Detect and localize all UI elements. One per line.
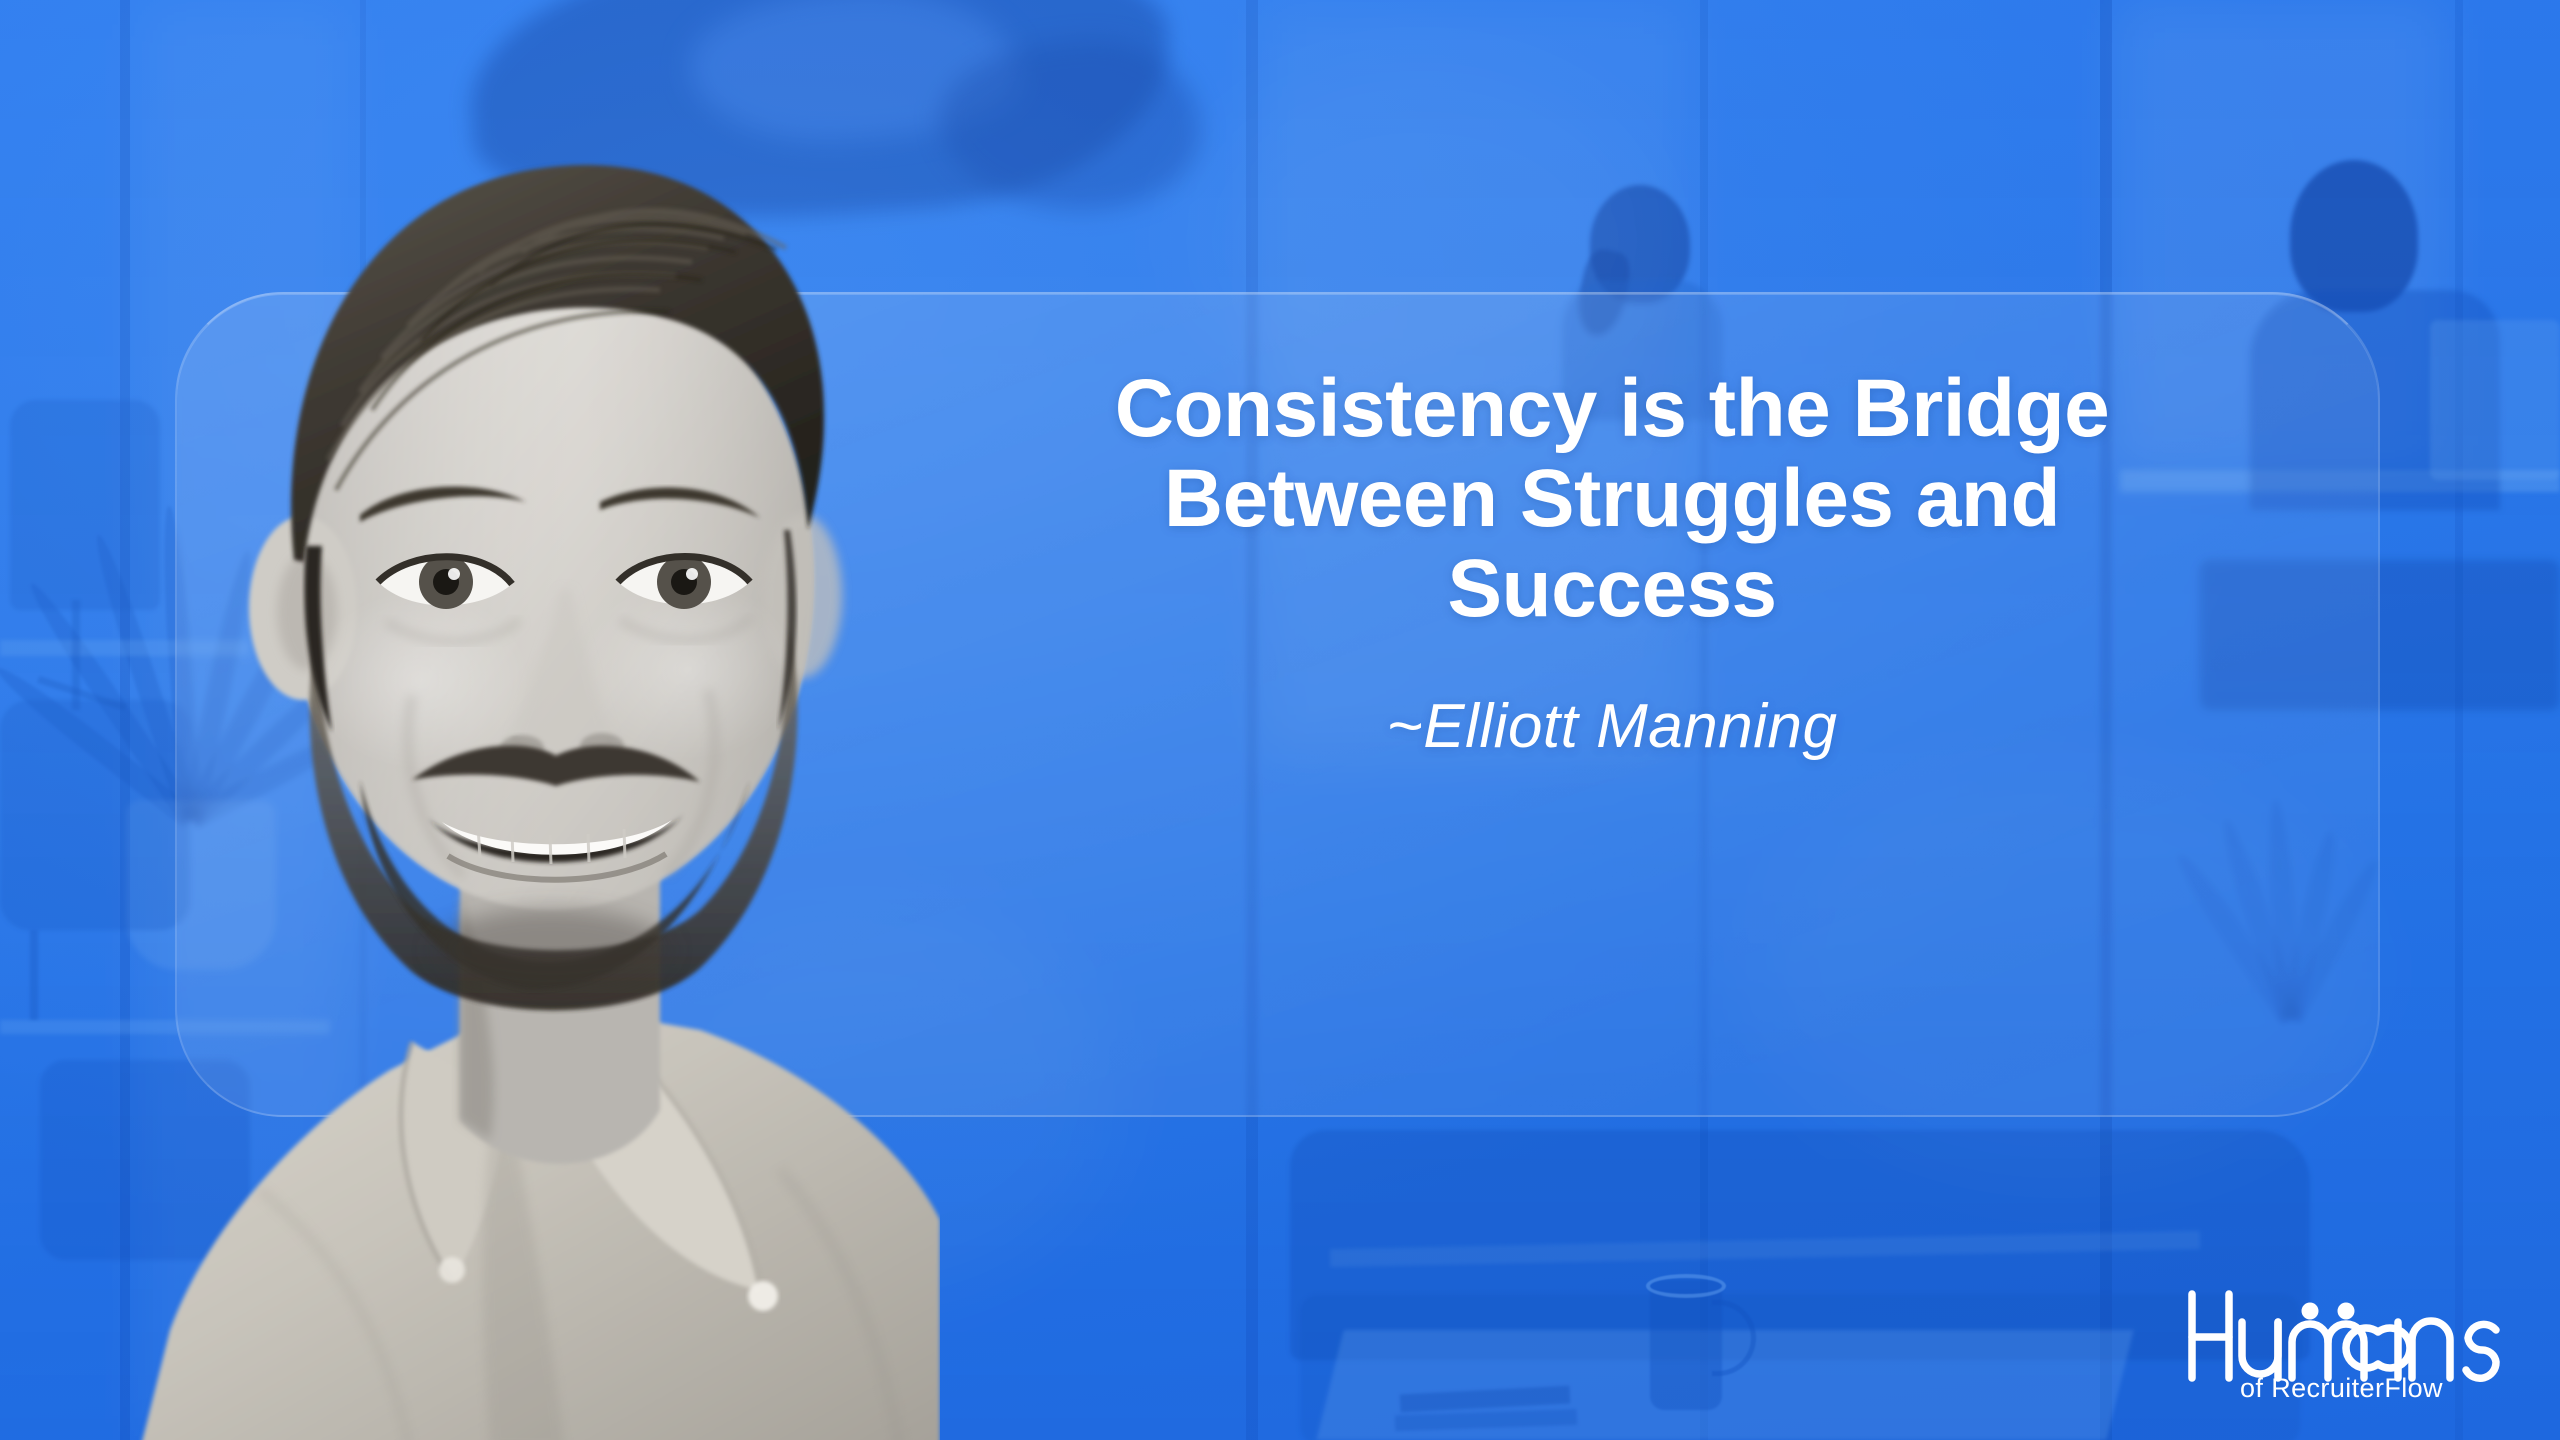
quote-text-block: Consistency is the Bridge Between Strugg… <box>897 364 2327 762</box>
quote-line-1: Consistency is the Bridge <box>897 364 2327 454</box>
logo-person-head-left <box>2302 1303 2319 1320</box>
logo-person-head-right <box>2338 1303 2355 1320</box>
humans-of-recruiterflow-logo: of RecruiterFlow <box>2182 1280 2512 1402</box>
quote-line-3: Success <box>897 544 2327 634</box>
quote-card-graphic: Consistency is the Bridge Between Strugg… <box>0 0 2560 1440</box>
quote-card: Consistency is the Bridge Between Strugg… <box>175 292 2380 1117</box>
quote-author: ~Elliott Manning <box>897 691 2327 762</box>
quote-line-2: Between Struggles and <box>897 454 2327 544</box>
logo-tagline: of RecruiterFlow <box>2240 1373 2443 1402</box>
